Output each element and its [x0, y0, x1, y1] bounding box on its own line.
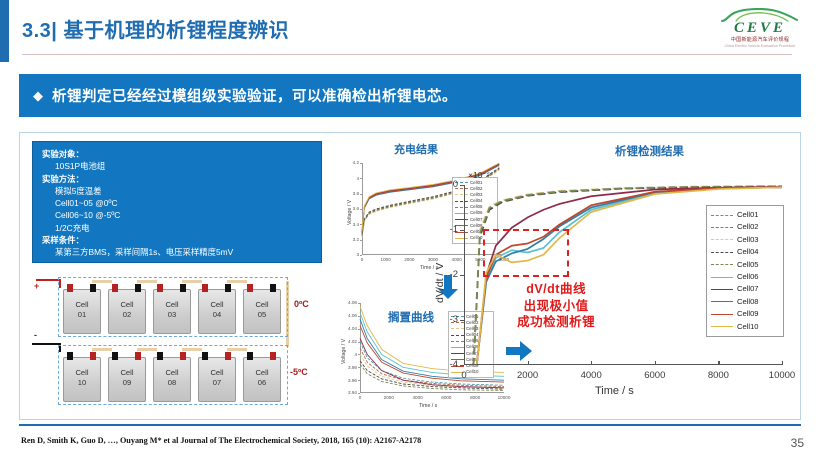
page-number: 35	[791, 436, 804, 450]
y-tick-label: -1	[428, 224, 458, 235]
citation-text: Ren D, Smith K, Guo D, …, Ouyang M* et a…	[21, 436, 421, 445]
battery-cell-10: Cell10	[63, 357, 101, 402]
cell-negative-terminal	[67, 352, 73, 360]
cell-negative-terminal	[112, 352, 118, 360]
cell-positive-terminal	[247, 284, 253, 292]
cell-busbar	[137, 348, 157, 351]
x-tick-mark	[528, 361, 529, 365]
battery-cell-04: Cell04	[198, 289, 236, 334]
lithium-plating-detection-chart: dV/dt曲线 出现极小值 成功检测析锂 Cell01Cell02Cell03C…	[420, 169, 788, 407]
cell-number: 07	[199, 378, 235, 388]
info-line-0: 实验对象：	[42, 148, 321, 160]
content-panel: 实验对象：10S1P电池组实验方法：模拟5度温差Cell01~05 @0ºCCe…	[19, 132, 801, 420]
cell-word: Cell	[199, 368, 235, 378]
logo-chinese-text: 中国新能源汽车评价规程	[714, 36, 806, 43]
y-tick-mark	[460, 365, 464, 366]
cell-negative-terminal	[270, 284, 276, 292]
ceve-logo: CEVE 中国新能源汽车评价规程 China Electric Vehicle …	[714, 8, 806, 52]
cell-positive-terminal	[112, 284, 118, 292]
y-tick-label: -4	[428, 359, 458, 370]
cell-negative-terminal	[225, 284, 231, 292]
left-accent-bar	[0, 0, 9, 62]
cell-word: Cell	[199, 300, 235, 310]
logo-english-text: China Electric Vehicle Evaluation Proced…	[714, 44, 806, 48]
x-tick-mark	[718, 361, 719, 365]
info-line-1: 10S1P电池组	[42, 160, 321, 172]
cell-word: Cell	[109, 300, 145, 310]
info-line-7: 采样条件：	[42, 234, 321, 246]
y-tick-mark	[460, 275, 464, 276]
cell-number: 08	[154, 378, 190, 388]
diamond-bullet-icon: ◆	[33, 88, 43, 104]
cell-word: Cell	[154, 368, 190, 378]
cell-negative-terminal	[247, 352, 253, 360]
cell-negative-terminal	[202, 352, 208, 360]
cell-busbar	[137, 280, 157, 283]
info-line-6: 1/2C充电	[42, 222, 321, 234]
negative-lead	[32, 343, 60, 345]
cell-number: 04	[199, 310, 235, 320]
battery-cell-03: Cell03	[153, 289, 191, 334]
battery-cell-07: Cell07	[198, 357, 236, 402]
battery-cell-02: Cell02	[108, 289, 146, 334]
title-divider	[22, 54, 792, 55]
x-tick-label: 4000	[573, 370, 609, 381]
cell-positive-terminal	[135, 352, 141, 360]
cell-word: Cell	[244, 368, 280, 378]
x-tick-mark	[591, 361, 592, 365]
battery-cell-09: Cell09	[108, 357, 146, 402]
info-line-8: 某第三方BMS，采样间隔1s、电压采样精度5mV	[42, 246, 321, 258]
logo-wordmark: CEVE	[716, 20, 804, 37]
cell-busbar	[92, 348, 112, 351]
cell-word: Cell	[64, 300, 100, 310]
cell-positive-terminal	[225, 352, 231, 360]
cell-busbar	[182, 280, 202, 283]
x-axis-label: Time / s	[595, 385, 634, 397]
page-title: 3.3| 基于机理的析锂程度辨识	[22, 14, 289, 43]
x-tick-mark	[464, 361, 465, 365]
cell-busbar	[227, 280, 247, 283]
cell-positive-terminal	[270, 352, 276, 360]
x-tick-label: 2000	[510, 370, 546, 381]
detection-chart-title: 析锂检测结果	[615, 143, 684, 159]
cell-number: 09	[109, 378, 145, 388]
battery-cell-05: Cell05	[243, 289, 281, 334]
temperature-label-bottom: -5ºC	[290, 367, 308, 377]
temperature-label-top: 0ºC	[294, 299, 309, 309]
cell-negative-terminal	[157, 352, 163, 360]
cell-number: 01	[64, 310, 100, 320]
cell-number: 03	[154, 310, 190, 320]
y-tick-mark	[460, 185, 464, 186]
x-tick-label: 8000	[700, 370, 736, 381]
key-message-banner: ◆ 析锂判定已经经过模组级实验验证，可以准确检出析锂电芯。	[19, 74, 801, 117]
cell-group-top: Cell01Cell02Cell03Cell04Cell05	[58, 277, 288, 337]
info-line-5: Cell06~10 @-5ºC	[42, 209, 321, 221]
cell-busbar	[92, 280, 112, 283]
battery-pack-diagram: + - Cell01Cell02Cell03Cell04Cell05 Cell1…	[32, 273, 322, 411]
cell-group-bottom: Cell10Cell09Cell08Cell07Cell06	[58, 345, 288, 405]
info-line-2: 实验方法：	[42, 173, 321, 185]
y-tick-label: 0	[428, 179, 458, 190]
footer-divider	[19, 424, 801, 426]
positive-lead	[36, 279, 60, 281]
x-tick-label: 6000	[637, 370, 673, 381]
x-tick-mark	[782, 361, 783, 365]
cell-busbar	[182, 348, 202, 351]
cell-word: Cell	[154, 300, 190, 310]
cell-number: 02	[109, 310, 145, 320]
battery-cell-01: Cell01	[63, 289, 101, 334]
y-tick-mark	[460, 230, 464, 231]
banner-text: 析锂判定已经经过模组级实验验证，可以准确检出析锂电芯。	[52, 85, 457, 106]
battery-cell-08: Cell08	[153, 357, 191, 402]
x-tick-label: 0	[446, 370, 482, 381]
cell-number: 06	[244, 378, 280, 388]
cell-number: 05	[244, 310, 280, 320]
cell-positive-terminal	[202, 284, 208, 292]
cell-positive-terminal	[157, 284, 163, 292]
y-tick-mark	[460, 320, 464, 321]
x-tick-mark	[655, 361, 656, 365]
cell-word: Cell	[64, 368, 100, 378]
negative-terminal-mark: -	[34, 330, 37, 340]
cell-positive-terminal	[180, 352, 186, 360]
experiment-info-box: 实验对象：10S1P电池组实验方法：模拟5度温差Cell01~05 @0ºCCe…	[32, 141, 322, 263]
y-axis-exponent: ×10⁻⁵	[468, 170, 490, 181]
plot-axes	[464, 185, 782, 365]
cell-negative-terminal	[135, 284, 141, 292]
info-line-3: 模拟5度温差	[42, 185, 321, 197]
y-tick-label: -3	[428, 314, 458, 325]
cell-word: Cell	[244, 300, 280, 310]
cell-positive-terminal	[90, 352, 96, 360]
positive-terminal-mark: +	[34, 281, 39, 291]
info-line-4: Cell01~05 @0ºC	[42, 197, 321, 209]
cell-number: 10	[64, 378, 100, 388]
cell-negative-terminal	[180, 284, 186, 292]
y-axis-label: dV/dt / V	[434, 263, 446, 303]
charge-chart-title: 充电结果	[394, 141, 438, 157]
cell-busbar	[227, 348, 247, 351]
x-tick-label: 10000	[764, 370, 800, 381]
cell-word: Cell	[109, 368, 145, 378]
battery-cell-06: Cell06	[243, 357, 281, 402]
cell-negative-terminal	[90, 284, 96, 292]
cell-positive-terminal	[67, 284, 73, 292]
